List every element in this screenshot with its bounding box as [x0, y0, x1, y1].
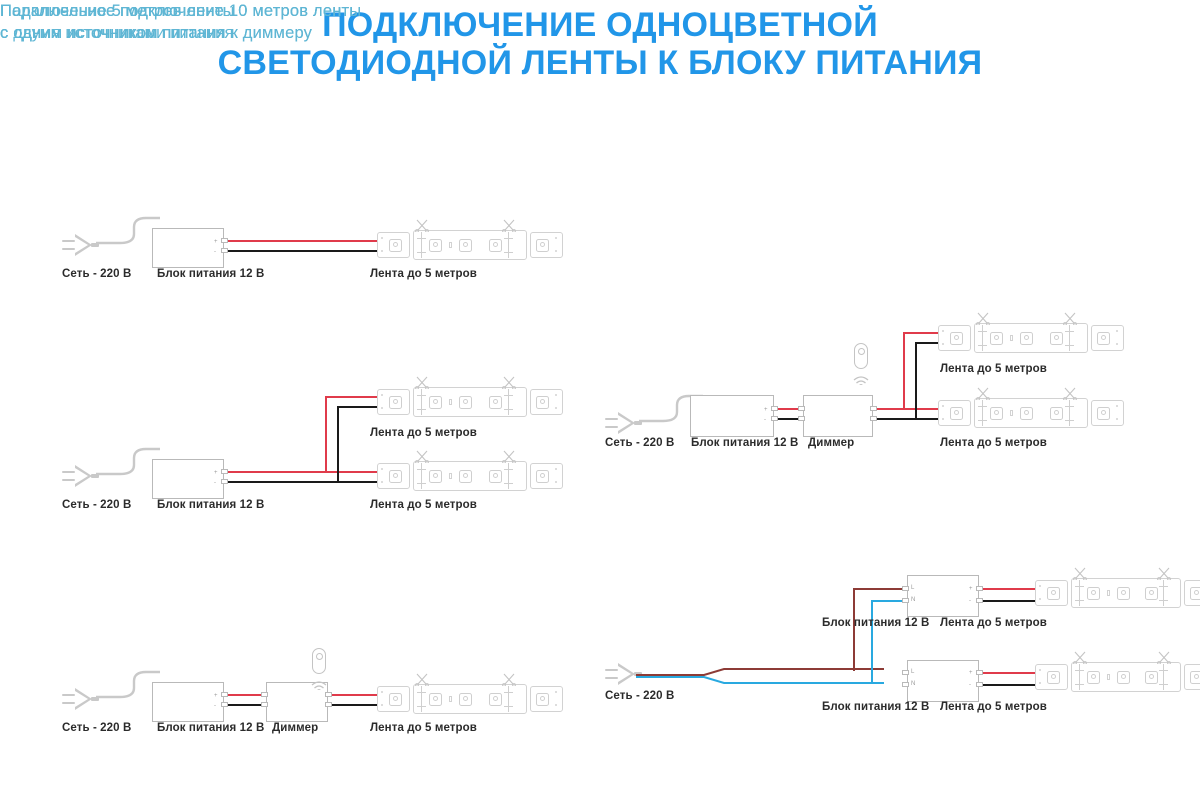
cut-mark-scissors-icon — [1157, 567, 1171, 580]
cut-mark-scissors-icon — [1073, 567, 1087, 580]
psu-terminal-neutral-sign: N — [911, 681, 915, 687]
wire-positive — [983, 588, 1039, 590]
psu-terminal-minus-sign: - — [969, 598, 971, 604]
psu-terminal-plus-sign: + — [969, 586, 973, 592]
caption-line-1: Параллельное подключение 10 метров ленты — [0, 0, 1200, 22]
psu-terminal-neutral — [902, 598, 909, 603]
caption-line-2: с двумя источниками питания — [0, 22, 1200, 44]
psu-terminal-line — [902, 670, 909, 675]
diagram-caption: Параллельное подключение 10 метров ленты… — [0, 0, 1200, 44]
label-mains: Сеть - 220 В — [605, 690, 674, 702]
label-led-strip: Лента до 5 метров — [940, 617, 1047, 629]
label-power-supply: Блок питания 12 В — [822, 617, 929, 629]
wire-positive — [983, 672, 1039, 674]
cut-mark-scissors-icon — [1073, 651, 1087, 664]
psu-terminal-plus — [976, 670, 983, 675]
power-supply-box — [907, 575, 979, 617]
psu-terminal-neutral-sign: N — [911, 597, 915, 603]
diagram-parallel-two-strips-two-psu: L N + - Лента д — [0, 0, 1200, 800]
psu-terminal-minus — [976, 598, 983, 603]
wire-negative — [983, 600, 1039, 602]
psu-terminal-plus — [976, 586, 983, 591]
psu-terminal-line-sign: L — [911, 669, 914, 675]
label-led-strip: Лента до 5 метров — [940, 701, 1047, 713]
psu-terminal-neutral — [902, 682, 909, 687]
psu-terminal-minus-sign: - — [969, 682, 971, 688]
wire-line-branch-top — [853, 588, 908, 590]
wire-line-branch-vertical — [853, 588, 855, 671]
label-power-supply: Блок питания 12 В — [822, 701, 929, 713]
psu-terminal-minus — [976, 682, 983, 687]
cut-mark-scissors-icon — [1157, 651, 1171, 664]
psu-terminal-line-sign: L — [911, 585, 914, 591]
power-supply-box — [907, 660, 979, 702]
psu-terminal-line — [902, 586, 909, 591]
wire-negative — [983, 684, 1039, 686]
wire-neutral-branch-vertical — [871, 600, 873, 683]
psu-terminal-plus-sign: + — [969, 670, 973, 676]
